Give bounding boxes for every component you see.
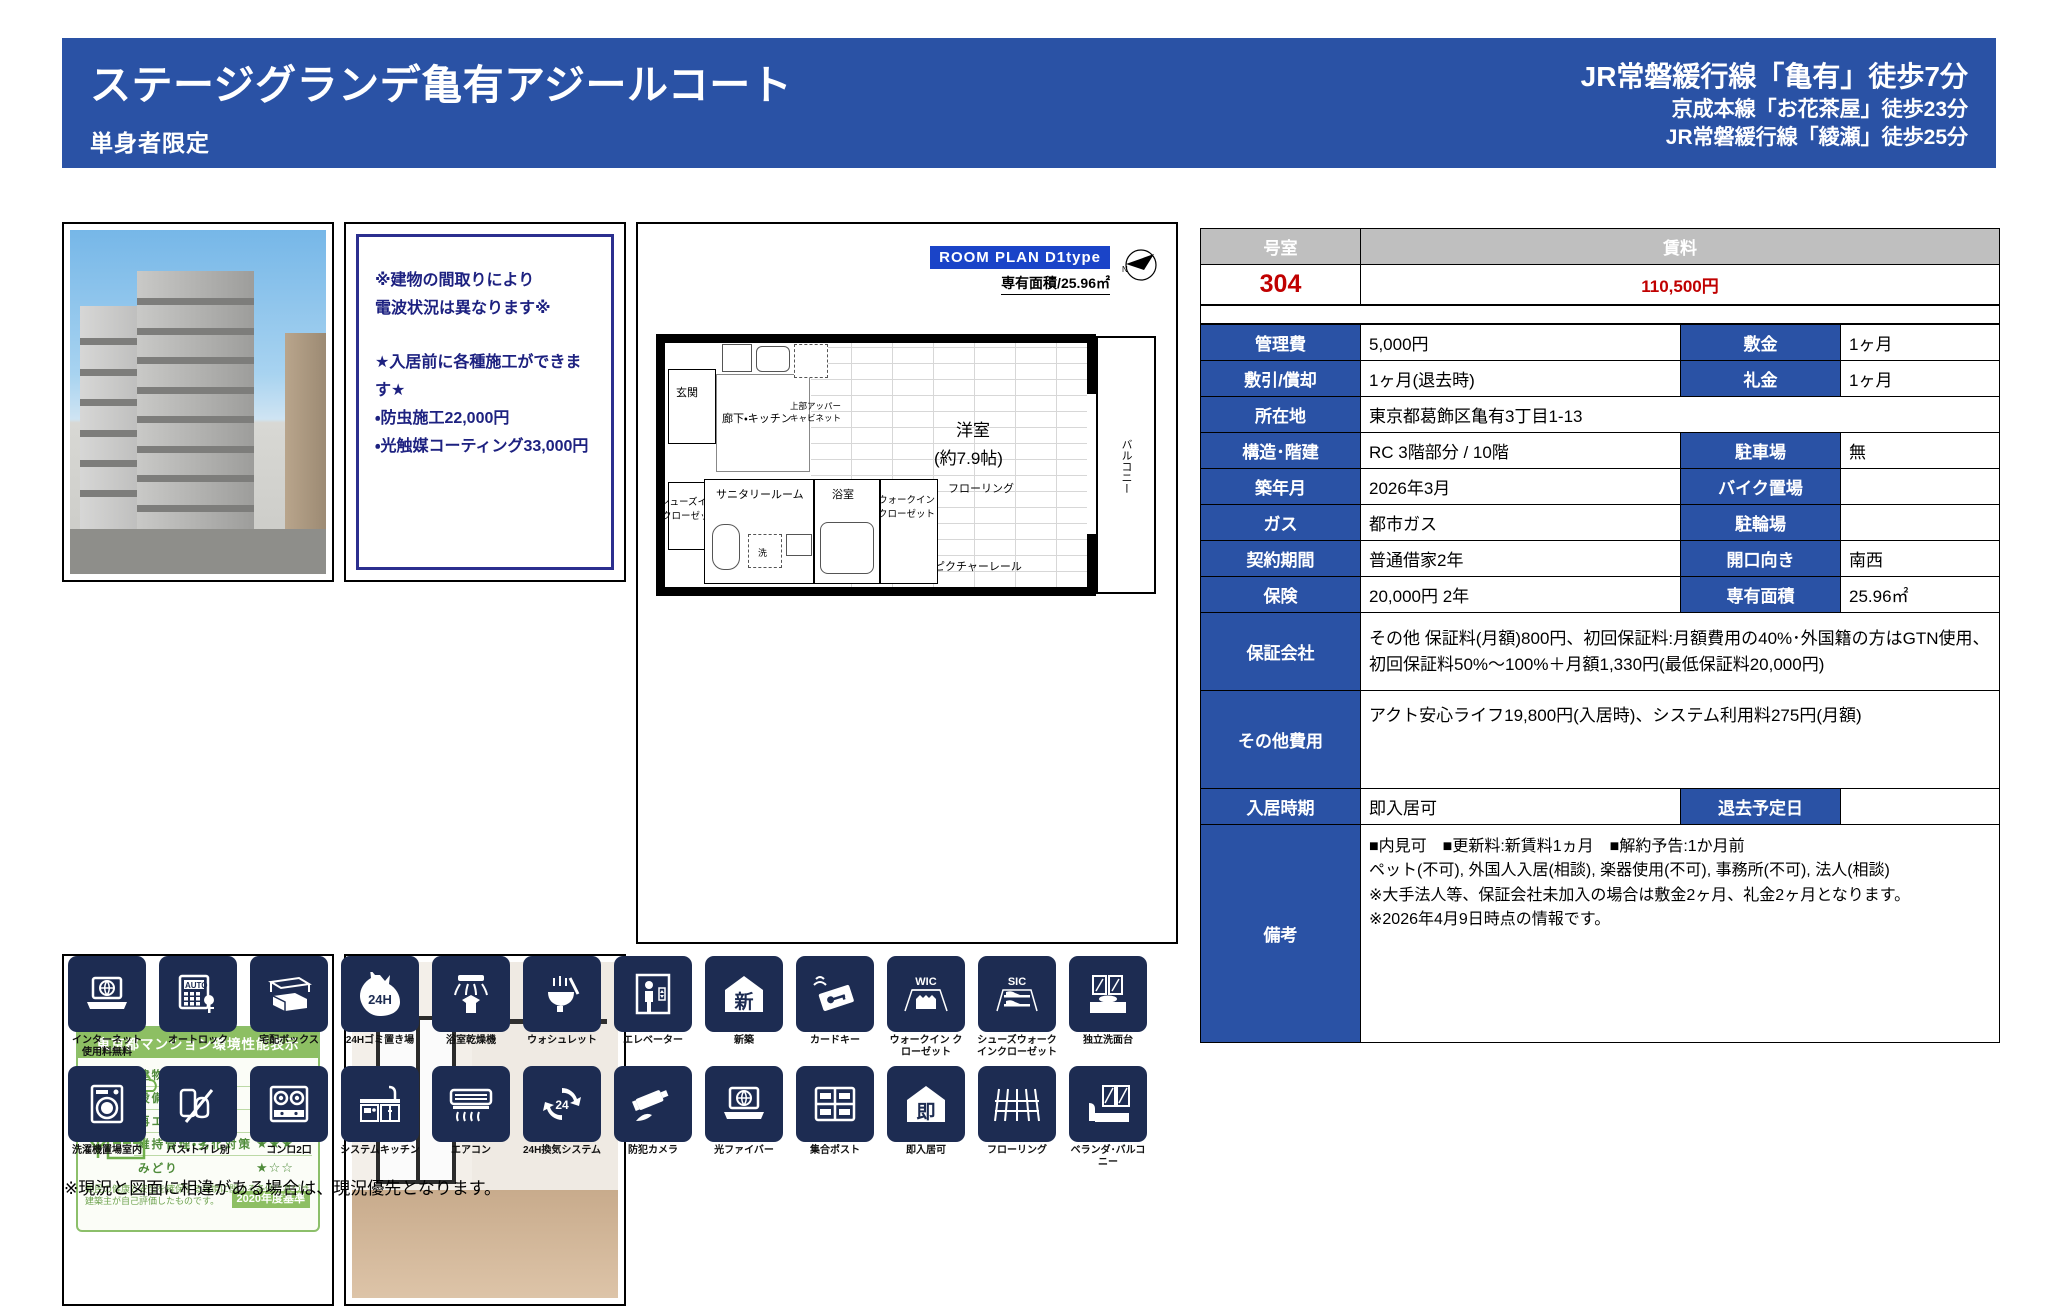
amenity-balcony: ベランダ･バルコニー [1067,1066,1149,1168]
label-gas: ガス [1201,505,1361,541]
plan-label-picture-rail: ピクチャーレール [934,558,1022,574]
remarks-line-3: ※大手法人等、保証会社未加入の場合は敷金2ヶ月、礼金2ヶ月となります。 [1369,884,1991,908]
amenity-auto-lock: AUTO オートロック [157,956,239,1058]
value-gas: 都市ガス [1361,505,1681,541]
note-line-3: ★入居前に各種施工ができます★ [375,349,595,405]
floor-plan: ROOM PLAN D1type 専有面積/25.96㎡ N [636,222,1178,944]
plan-label-entrance: 玄関 [676,384,698,400]
svg-text:即: 即 [916,1102,935,1123]
label-structure: 構造･階建 [1201,433,1361,469]
svg-text:新: 新 [733,991,753,1013]
plan-label-corridor-kitchen: 廊下・キッチン [722,410,792,426]
table-row-gas: ガス 都市ガス 駐輪場 [1201,505,2000,541]
value-move-out-date [1841,789,2000,825]
svg-text:N: N [1122,265,1128,274]
plan-label-balcony: バルコニー [1118,439,1134,494]
label-bike-parking: バイク置場 [1681,469,1841,505]
construction-note-box: ※建物の間取りにより 電波状況は異なります※ ★入居前に各種施工ができます★ ・… [344,222,626,582]
amenity-fiber-optic: 光ファイバー [703,1066,785,1168]
amenity-washlet: ウォシュレット [521,956,603,1058]
value-bicycle-parking [1841,505,2000,541]
label-other-fees: その他費用 [1201,691,1361,789]
remarks-line-1: ■内見可 ■更新料:新賃料1ヵ月 ■解約予告:1か月前 [1369,835,1991,859]
table-row-guarantor: 保証会社 その他 保証料(月額)800円、初回保証料:月額費用の40%･外国籍の… [1201,613,2000,691]
ventilation-24h-icon: 24 [523,1066,601,1142]
exterior-photo [62,222,334,582]
amenity-label: 新築 [703,1035,785,1047]
value-contract-period: 普通借家2年 [1361,541,1681,577]
note-line-5: ・光触媒コーティング33,000円 [375,433,595,461]
amenity-delivery-box: 宅配ボックス [248,956,330,1058]
value-management-fee: 5,000円 [1361,325,1681,361]
mailbox-icon [796,1066,874,1142]
immediate-move-in-icon: 即 [887,1066,965,1142]
value-parking: 無 [1841,433,2000,469]
svg-text:24: 24 [555,1098,569,1112]
card-key-icon [796,956,874,1032]
amenity-icon-row-2: 洗濯機置場室内 バス・トイレ別 [66,1066,1176,1168]
amenity-icon-row-1: インターネット 使用料無料 AUTO オートロック [66,956,1176,1058]
label-facing: 開口向き [1681,541,1841,577]
amenity-flooring: フローリング [976,1066,1058,1168]
plan-label-bath: 浴室 [832,486,854,502]
amenity-label: 宅配ボックス [248,1035,330,1047]
floor-plan-area: 専有面積/25.96㎡ [1001,273,1110,295]
table-row-move-in: 入居時期 即入居可 退去予定日 [1201,789,2000,825]
remarks-line-4: ※2026年4月9日時点の情報です。 [1369,908,1991,932]
label-move-out-date: 退去予定日 [1681,789,1841,825]
label-deposit: 敷金 [1681,325,1841,361]
svg-text:SIC: SIC [1008,976,1026,988]
amenity-trash-24h: 24H 24Hゴミ置き場 [339,956,421,1058]
summary-table: 号室 賃料 304 110,500円 [1200,228,2000,305]
washlet-icon [523,956,601,1032]
amenity-label: 独立洗面台 [1067,1035,1149,1047]
amenity-bath-dryer: 浴室乾燥機 [430,956,512,1058]
amenity-walk-in-closet: WIC ウォークイン クローゼット [885,956,967,1058]
amenity-label: シューズウォーク インクローゼット [976,1035,1058,1058]
amenity-label: システムキッチン [339,1145,421,1157]
label-built-date: 築年月 [1201,469,1361,505]
street [70,529,326,574]
amenity-internet-free: インターネット 使用料無料 [66,956,148,1058]
access-line-3: JR常磐緩行線「綾瀬」徒歩25分 [1436,124,1968,152]
table-row-contract: 契約期間 普通借家2年 開口向き 南西 [1201,541,2000,577]
table-row-amortization: 敷引/償却 1ヶ月(退去時) 礼金 1ヶ月 [1201,361,2000,397]
auto-lock-icon: AUTO [159,956,237,1032]
floor-plan-type-tag: ROOM PLAN D1type [930,246,1110,269]
svg-text:WIC: WIC [915,976,936,988]
table-row-management-fee: 管理費 5,000円 敷金 1ヶ月 [1201,325,2000,361]
label-guarantor-company: 保証会社 [1201,613,1361,691]
floor-plan-drawing: バルコニー 洋室 (約7.9帖) フローリング ピクチャーレール 玄関 シューズ… [656,334,1162,604]
amenity-label: エアコン [430,1145,512,1157]
amenity-security-camera: 防犯カメラ [612,1066,694,1168]
disclaimer-text: ※現況と図面に相違がある場合は、現況優先となります。 [64,1174,501,1199]
label-parking: 駐車場 [1681,433,1841,469]
label-amortization: 敷引/償却 [1201,361,1361,397]
vanity-icon [1069,956,1147,1032]
amenity-card-key: カードキー [794,956,876,1058]
value-facing: 南西 [1841,541,2000,577]
delivery-box-icon [250,956,328,1032]
amenity-label: フローリング [976,1145,1058,1157]
room-number-value: 304 [1201,265,1361,305]
table-row-built-date: 築年月 2026年3月 バイク置場 [1201,469,2000,505]
value-other-fees: アクト安心ライフ19,800円(入居時)、システム利用料275円(月額) [1361,691,2000,789]
amenity-vanity: 独立洗面台 [1067,956,1149,1058]
plan-label-western-room: 洋室 [956,416,990,441]
floor-plan-heading: ROOM PLAN D1type 専有面積/25.96㎡ [930,246,1110,295]
amenity-label: 24Hゴミ置き場 [339,1035,421,1047]
label-management-fee: 管理費 [1201,325,1361,361]
amenity-label: バス・トイレ別 [157,1145,239,1157]
label-floor-area: 専有面積 [1681,577,1841,613]
plan-label-flooring: フローリング [948,480,1014,496]
label-remarks: 備考 [1201,825,1361,1043]
amenity-immediate-move-in: 即 即入居可 [885,1066,967,1168]
note-line-1: ※建物の間取りにより [375,267,595,295]
main-building [137,271,255,539]
access-line-1: JR常磐緩行線「亀有」徒歩7分 [1436,59,1968,95]
stove-2burner-icon [250,1066,328,1142]
interior-flooring [352,1190,618,1298]
bath-toilet-separate-icon [159,1066,237,1142]
neighbor-building-right [285,333,326,539]
amenity-label: 即入居可 [885,1145,967,1157]
label-key-money: 礼金 [1681,361,1841,397]
amenity-label: コンロ2口 [248,1145,330,1157]
table-row-other-fees: その他費用 アクト安心ライフ19,800円(入居時)、システム利用料275円(月… [1201,691,2000,789]
note-line-2: 電波状況は異なります※ [375,295,595,323]
note-line-4: ・防虫施工22,000円 [375,405,595,433]
air-conditioner-icon [432,1066,510,1142]
details-spacer [1200,305,2000,324]
flooring-icon [978,1066,1056,1142]
construction-note-inner: ※建物の間取りにより 電波状況は異なります※ ★入居前に各種施工ができます★ ・… [356,234,614,570]
header-left: ステージグランデ亀有アジールコート 単身者限定 [62,38,1436,168]
amenity-label: ウォークイン クローゼット [885,1035,967,1058]
svg-text:24H: 24H [368,992,392,1007]
remarks-line-2: ペット(不可), 外国人入居(相談), 楽器使用(不可), 事務所(不可), 法… [1369,859,1991,883]
amenity-air-conditioner: エアコン [430,1066,512,1168]
value-address: 東京都葛飾区亀有3丁目1-13 [1361,397,2000,433]
value-amortization: 1ヶ月(退去時) [1361,361,1681,397]
summary-header-room: 号室 [1201,229,1361,265]
amenity-stove-2burner: コンロ2口 [248,1066,330,1168]
wic-icon: WIC [887,956,965,1032]
security-camera-icon [614,1066,692,1142]
value-move-in-date: 即入居可 [1361,789,1681,825]
laptop-globe-icon [68,956,146,1032]
building-name: ステージグランデ亀有アジールコート [90,62,1436,109]
label-address: 所在地 [1201,397,1361,433]
amenity-label: ウォシュレット [521,1035,603,1047]
amenity-label: 洗濯機置場室内 [66,1145,148,1157]
property-flyer: ステージグランデ亀有アジールコート 単身者限定 JR常磐緩行線「亀有」徒歩7分 … [0,0,2056,1220]
new-build-icon: 新 [705,956,783,1032]
table-row: 304 110,500円 [1201,265,2000,305]
photo-row-top: ※建物の間取りにより 電波状況は異なります※ ★入居前に各種施工ができます★ ・… [62,222,1182,944]
amenity-label: 集合ポスト [794,1145,876,1157]
rent-value: 110,500円 [1361,265,2000,305]
table-row-structure: 構造･階建 RC 3階部分 / 10階 駐車場 無 [1201,433,2000,469]
right-column: 号室 賃料 304 110,500円 管理費 5,000円 敷金 1ヶ月 敷引/… [1200,228,2000,1043]
amenity-washer-indoor: 洗濯機置場室内 [66,1066,148,1168]
svg-text:AUTO: AUTO [185,981,208,990]
plan-label-sanitary: サニタリールーム [716,486,804,502]
amenity-new-build: 新 新築 [703,956,785,1058]
system-kitchen-icon [341,1066,419,1142]
label-insurance: 保険 [1201,577,1361,613]
elevator-icon [614,956,692,1032]
exterior-photo-image [70,230,326,574]
page-header: ステージグランデ亀有アジールコート 単身者限定 JR常磐緩行線「亀有」徒歩7分 … [62,38,1996,168]
value-floor-area: 25.96㎡ [1841,577,2000,613]
value-deposit: 1ヶ月 [1841,325,2000,361]
amenity-bath-toilet-separate: バス・トイレ別 [157,1066,239,1168]
value-insurance: 20,000円 2年 [1361,577,1681,613]
sic-icon: SIC [978,956,1056,1032]
value-built-date: 2026年3月 [1361,469,1681,505]
table-row: 号室 賃料 [1201,229,2000,265]
amenity-label: 光ファイバー [703,1145,785,1157]
amenity-label: 浴室乾燥機 [430,1035,512,1047]
amenity-label: エレベーター [612,1035,694,1047]
table-row-address: 所在地 東京都葛飾区亀有3丁目1-13 [1201,397,2000,433]
label-move-in-date: 入居時期 [1201,789,1361,825]
amenity-label: 24H換気システム [521,1145,603,1157]
value-remarks: ■内見可 ■更新料:新賃料1ヵ月 ■解約予告:1か月前 ペット(不可), 外国人… [1361,825,2000,1043]
label-contract-period: 契約期間 [1201,541,1361,577]
fiber-optic-icon [705,1066,783,1142]
amenity-elevator: エレベーター [612,956,694,1058]
trash-24h-icon: 24H [341,956,419,1032]
plan-label-western-room-size: (約7.9帖) [934,444,1003,469]
amenity-label: ベランダ･バルコニー [1067,1145,1149,1168]
amenity-ventilation-24h: 24 24H換気システム [521,1066,603,1168]
bath-dryer-icon [432,956,510,1032]
value-key-money: 1ヶ月 [1841,361,2000,397]
amenity-label: 防犯カメラ [612,1145,694,1157]
label-bicycle-parking: 駐輪場 [1681,505,1841,541]
balcony-icon [1069,1066,1147,1142]
table-row-remarks: 備考 ■内見可 ■更新料:新賃料1ヵ月 ■解約予告:1か月前 ペット(不可), … [1201,825,2000,1043]
access-line-2: 京成本線「お花茶屋」徒歩23分 [1436,96,1968,124]
table-row-insurance: 保険 20,000円 2年 専有面積 25.96㎡ [1201,577,2000,613]
amenity-system-kitchen: システムキッチン [339,1066,421,1168]
value-structure: RC 3階部分 / 10階 [1361,433,1681,469]
access-info: JR常磐緩行線「亀有」徒歩7分 京成本線「お花茶屋」徒歩23分 JR常磐緩行線「… [1436,38,1996,168]
amenity-label: カードキー [794,1035,876,1047]
plan-label-wash: 洗 [758,546,767,559]
amenity-label: インターネット 使用料無料 [66,1035,148,1058]
washer-indoor-icon [68,1066,146,1142]
building-subtitle: 単身者限定 [90,124,1436,158]
amenity-shoes-in-closet: SIC シューズウォーク インクローゼット [976,956,1058,1058]
details-table: 管理費 5,000円 敷金 1ヶ月 敷引/償却 1ヶ月(退去時) 礼金 1ヶ月 … [1200,324,2000,1043]
amenity-label: オートロック [157,1035,239,1047]
summary-header-rent: 賃料 [1361,229,2000,265]
value-bike-parking [1841,469,2000,505]
amenity-icon-grid: インターネット 使用料無料 AUTO オートロック [66,956,1176,1176]
compass-icon: N [1120,244,1162,286]
amenity-mailbox: 集合ポスト [794,1066,876,1168]
value-guarantor-company: その他 保証料(月額)800円、初回保証料:月額費用の40%･外国籍の方はGTN… [1361,613,2000,691]
